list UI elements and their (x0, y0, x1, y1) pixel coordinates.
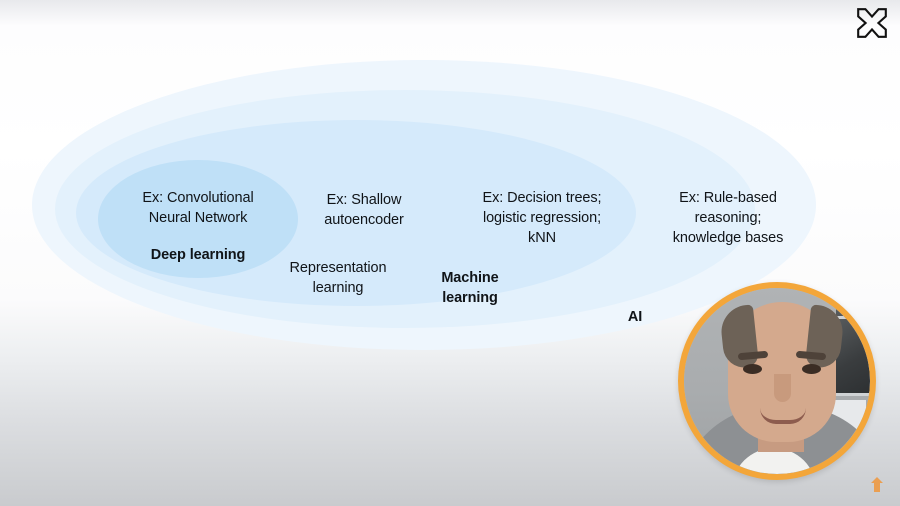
ring-title-machine-learning: Machine learning (400, 268, 540, 308)
example-label-deep-learning: Ex: Convolutional Neural Network (108, 188, 288, 228)
slide-canvas: Ex: Convolutional Neural Network Ex: Sha… (0, 0, 900, 506)
x-monogram-logo (854, 5, 890, 41)
webcam-video-frame (684, 288, 870, 474)
ring-title-representation-learning: Representation learning (262, 258, 414, 298)
example-label-machine-learning: Ex: Decision trees; logistic regression;… (452, 188, 632, 248)
ring-title-deep-learning: Deep learning (108, 245, 288, 265)
ring-title-ai: AI (598, 307, 672, 327)
example-label-ai: Ex: Rule-based reasoning; knowledge base… (638, 188, 818, 248)
presenter-eye-right (802, 364, 821, 374)
orange-arrow-mark (870, 477, 884, 492)
presenter-nose (774, 374, 791, 402)
example-label-representation-learning: Ex: Shallow autoencoder (288, 190, 440, 230)
presenter-webcam-bubble[interactable] (678, 282, 876, 480)
presenter-eye-left (743, 364, 762, 374)
